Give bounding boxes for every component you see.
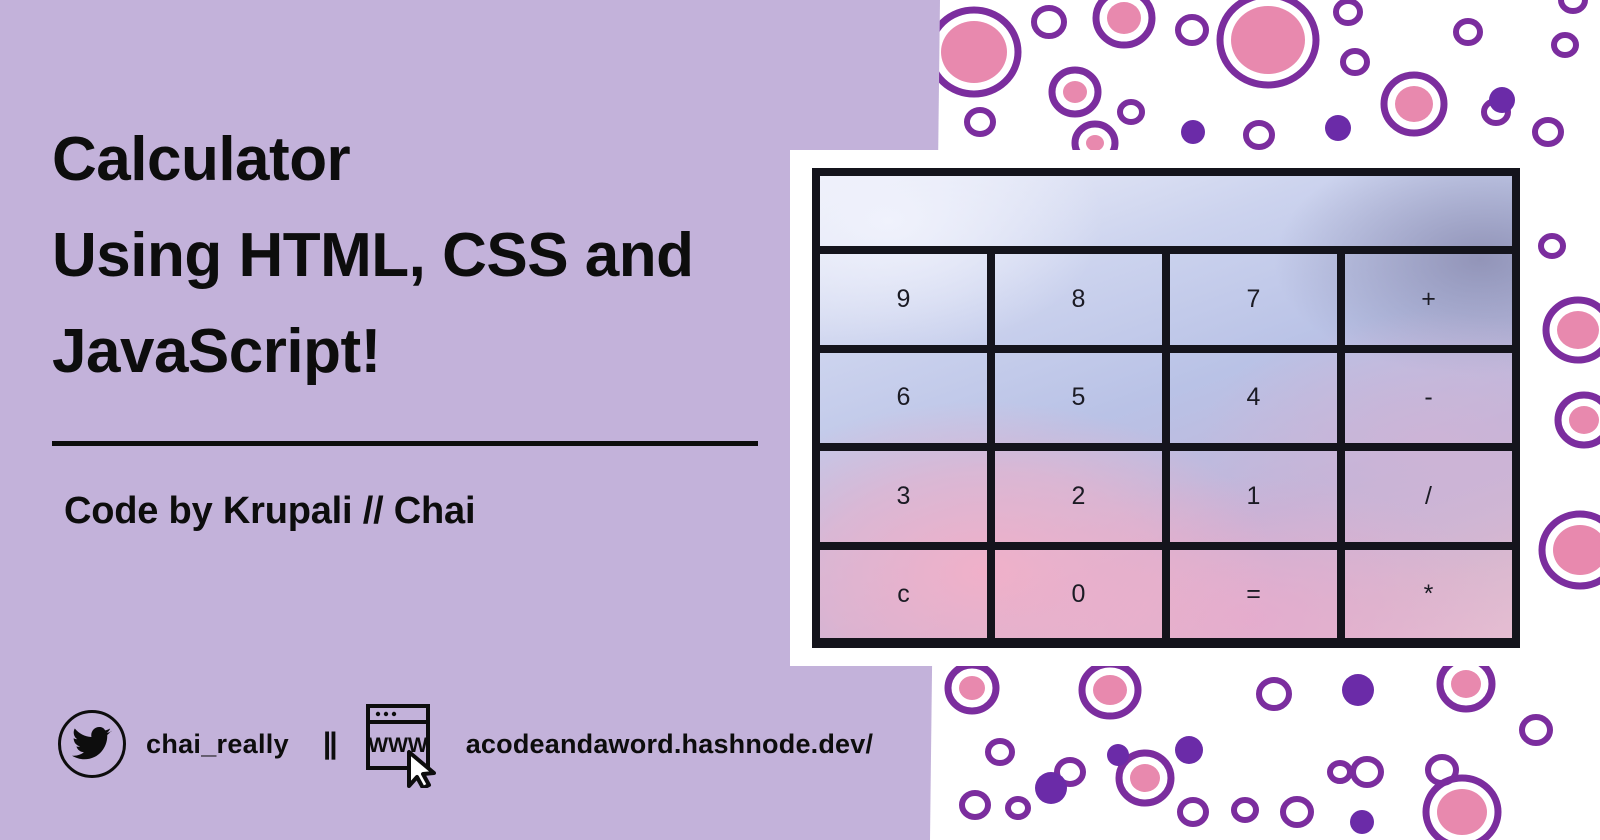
decor-hollow-ring bbox=[988, 741, 1012, 763]
calculator-key-digit-7[interactable]: 7 bbox=[1168, 252, 1339, 347]
calculator-app: 987+654-321/c0=* bbox=[812, 168, 1520, 648]
decor-pink-fill bbox=[1086, 135, 1104, 151]
decor-hollow-ring bbox=[1428, 757, 1456, 783]
calculator-key-label: 1 bbox=[1247, 484, 1261, 509]
decor-hollow-ring bbox=[1554, 35, 1576, 55]
calculator-card: 987+654-321/c0=* bbox=[790, 150, 1530, 666]
decor-pink-fill bbox=[1231, 6, 1305, 74]
calculator-key-digit-4[interactable]: 4 bbox=[1168, 351, 1339, 446]
browser-window-icon: WWW bbox=[364, 700, 440, 788]
byline-credit: Code by Krupali // Chai bbox=[64, 490, 475, 533]
decor-pink-fill bbox=[1130, 764, 1160, 792]
decor-pink-fill bbox=[1557, 311, 1599, 349]
decor-hollow-ring bbox=[1336, 1, 1360, 23]
calculator-key-label: 3 bbox=[897, 484, 911, 509]
decor-pink-fill bbox=[1107, 2, 1141, 34]
calculator-key-label: 5 bbox=[1072, 385, 1086, 410]
calculator-key-label: 7 bbox=[1247, 287, 1261, 312]
decor-hollow-ring bbox=[1178, 17, 1206, 43]
decor-pink-fill bbox=[1451, 670, 1481, 698]
twitter-link[interactable]: chai_really bbox=[58, 710, 289, 778]
decor-hollow-ring bbox=[1180, 800, 1206, 824]
calculator-key-label: 9 bbox=[897, 287, 911, 312]
calculator-key-label: = bbox=[1246, 582, 1261, 607]
decor-solid-dot bbox=[1489, 87, 1515, 113]
decor-hollow-ring bbox=[1120, 102, 1142, 122]
decor-hollow-ring bbox=[1283, 799, 1311, 825]
calculator-key-label: / bbox=[1425, 484, 1432, 509]
decor-hollow-ring bbox=[1353, 759, 1381, 785]
headline-line-3: JavaScript! bbox=[52, 304, 812, 400]
decor-hollow-ring bbox=[1234, 800, 1256, 820]
decor-solid-dot bbox=[1325, 115, 1351, 141]
decor-pink-fill bbox=[1093, 675, 1127, 705]
calculator-key-clear-c[interactable]: c bbox=[818, 548, 989, 643]
calculator-key-operator--[interactable]: - bbox=[1343, 351, 1514, 446]
decor-hollow-ring bbox=[967, 110, 993, 134]
decor-hollow-ring bbox=[1343, 51, 1367, 73]
calculator-key-operator-*[interactable]: * bbox=[1343, 548, 1514, 643]
calculator-key-label: 2 bbox=[1072, 484, 1086, 509]
twitter-bird-icon bbox=[58, 710, 126, 778]
calculator-key-digit-0[interactable]: 0 bbox=[993, 548, 1164, 643]
calculator-key-label: c bbox=[897, 582, 910, 607]
decor-hollow-ring bbox=[1456, 21, 1480, 43]
decor-pink-fill bbox=[941, 21, 1007, 83]
svg-text:WWW: WWW bbox=[368, 734, 428, 757]
website-link[interactable]: WWW acodeandaword.hashnode.dev/ bbox=[364, 700, 874, 788]
calculator-key-label: + bbox=[1421, 287, 1436, 312]
decor-hollow-ring bbox=[1246, 123, 1272, 147]
decor-solid-dot bbox=[1107, 744, 1129, 766]
decor-hollow-ring bbox=[1330, 763, 1350, 781]
calculator-key-digit-6[interactable]: 6 bbox=[818, 351, 989, 446]
calculator-key-label: 8 bbox=[1072, 287, 1086, 312]
calculator-key-operator-/[interactable]: / bbox=[1343, 449, 1514, 544]
calculator-key-label: * bbox=[1424, 582, 1434, 607]
decor-pink-fill bbox=[1063, 81, 1087, 103]
decor-hollow-ring bbox=[1535, 120, 1561, 144]
calculator-display[interactable] bbox=[818, 174, 1514, 248]
decor-pink-fill bbox=[1395, 86, 1433, 122]
page-title: Calculator Using HTML, CSS and JavaScrip… bbox=[52, 112, 812, 400]
decor-pink-fill bbox=[959, 676, 985, 700]
twitter-handle: chai_really bbox=[146, 729, 289, 760]
decor-solid-dot bbox=[1181, 120, 1205, 144]
decor-solid-dot bbox=[1350, 810, 1374, 834]
decor-solid-dot bbox=[1175, 736, 1203, 764]
calculator-key-operator-+[interactable]: + bbox=[1343, 252, 1514, 347]
poster-canvas: Calculator Using HTML, CSS and JavaScrip… bbox=[0, 0, 1600, 840]
footer-separator: || bbox=[323, 727, 336, 761]
calculator-key-label: 0 bbox=[1072, 582, 1086, 607]
footer-bar: chai_really || WWW bbox=[58, 702, 873, 786]
decor-pink-fill bbox=[1437, 789, 1487, 835]
calculator-key-digit-2[interactable]: 2 bbox=[993, 449, 1164, 544]
calculator-key-label: 6 bbox=[897, 385, 911, 410]
decor-hollow-ring bbox=[962, 793, 988, 817]
calculator-key-digit-9[interactable]: 9 bbox=[818, 252, 989, 347]
calculator-key-label: - bbox=[1424, 385, 1432, 410]
decor-hollow-ring bbox=[1522, 717, 1550, 743]
calculator-key-digit-8[interactable]: 8 bbox=[993, 252, 1164, 347]
decor-solid-dot bbox=[1035, 772, 1067, 804]
decor-hollow-ring bbox=[1008, 799, 1028, 817]
decor-hollow-ring bbox=[1541, 236, 1563, 256]
decor-solid-dot bbox=[1342, 674, 1374, 706]
headline-line-2: Using HTML, CSS and bbox=[52, 208, 812, 304]
headline-line-1: Calculator bbox=[52, 112, 812, 208]
display-background bbox=[818, 174, 1514, 248]
website-url: acodeandaword.hashnode.dev/ bbox=[466, 729, 874, 760]
decor-pink-fill bbox=[1553, 525, 1600, 575]
horizontal-divider bbox=[52, 441, 758, 446]
calculator-key-label: 4 bbox=[1247, 385, 1261, 410]
decor-hollow-ring bbox=[1561, 0, 1585, 11]
calculator-key-equals-=[interactable]: = bbox=[1168, 548, 1339, 643]
calculator-key-digit-3[interactable]: 3 bbox=[818, 449, 989, 544]
decor-hollow-ring bbox=[1259, 680, 1289, 708]
decor-pink-fill bbox=[1569, 406, 1599, 434]
decor-hollow-ring bbox=[1034, 8, 1064, 36]
calculator-key-digit-5[interactable]: 5 bbox=[993, 351, 1164, 446]
calculator-key-digit-1[interactable]: 1 bbox=[1168, 449, 1339, 544]
calculator-keypad: 987+654-321/c0=* bbox=[818, 252, 1514, 642]
